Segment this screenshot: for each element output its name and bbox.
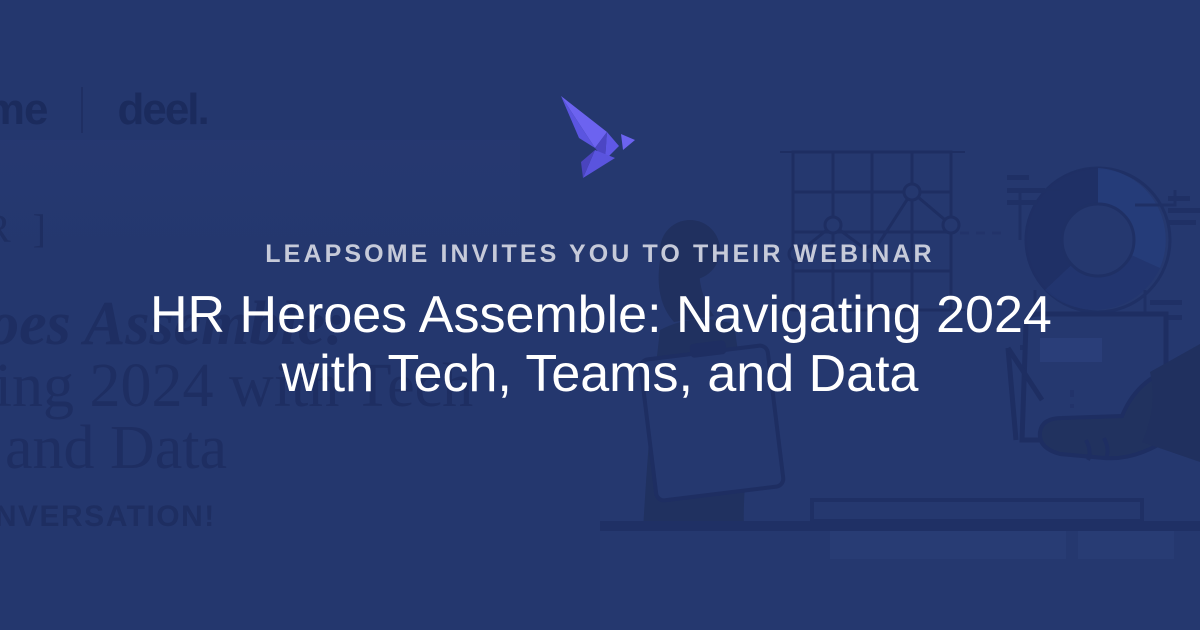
page-title: HR Heroes Assemble: Navigating 2024 with…	[150, 286, 1050, 404]
eyebrow-text: LEAPSOME INVITES YOU TO THEIR WEBINAR	[265, 242, 934, 267]
headline-line-2: with Tech, Teams, and Data	[150, 345, 1050, 404]
banner-content: LEAPSOME INVITES YOU TO THEIR WEBINAR HR…	[0, 0, 1200, 630]
webinar-promo-banner: ome deel. R ] roes Assemble: ating 2024 …	[0, 0, 1200, 630]
headline-line-1: HR Heroes Assemble: Navigating 2024	[150, 286, 1050, 345]
leapsome-bird-logo	[557, 88, 643, 180]
